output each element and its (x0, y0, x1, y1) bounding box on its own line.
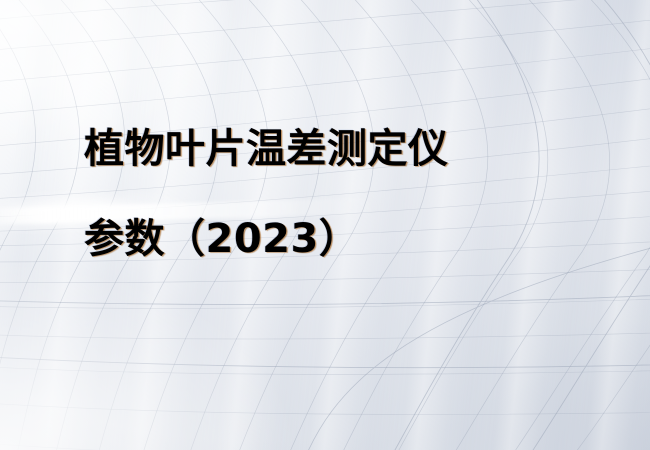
title-line-2: 参数（2023） (84, 216, 604, 263)
title-slide: 植物叶片温差测定仪 参数（2023） (0, 0, 650, 450)
page-title: 植物叶片温差测定仪 参数（2023） (84, 126, 604, 263)
title-line-1: 植物叶片温差测定仪 (84, 126, 604, 173)
